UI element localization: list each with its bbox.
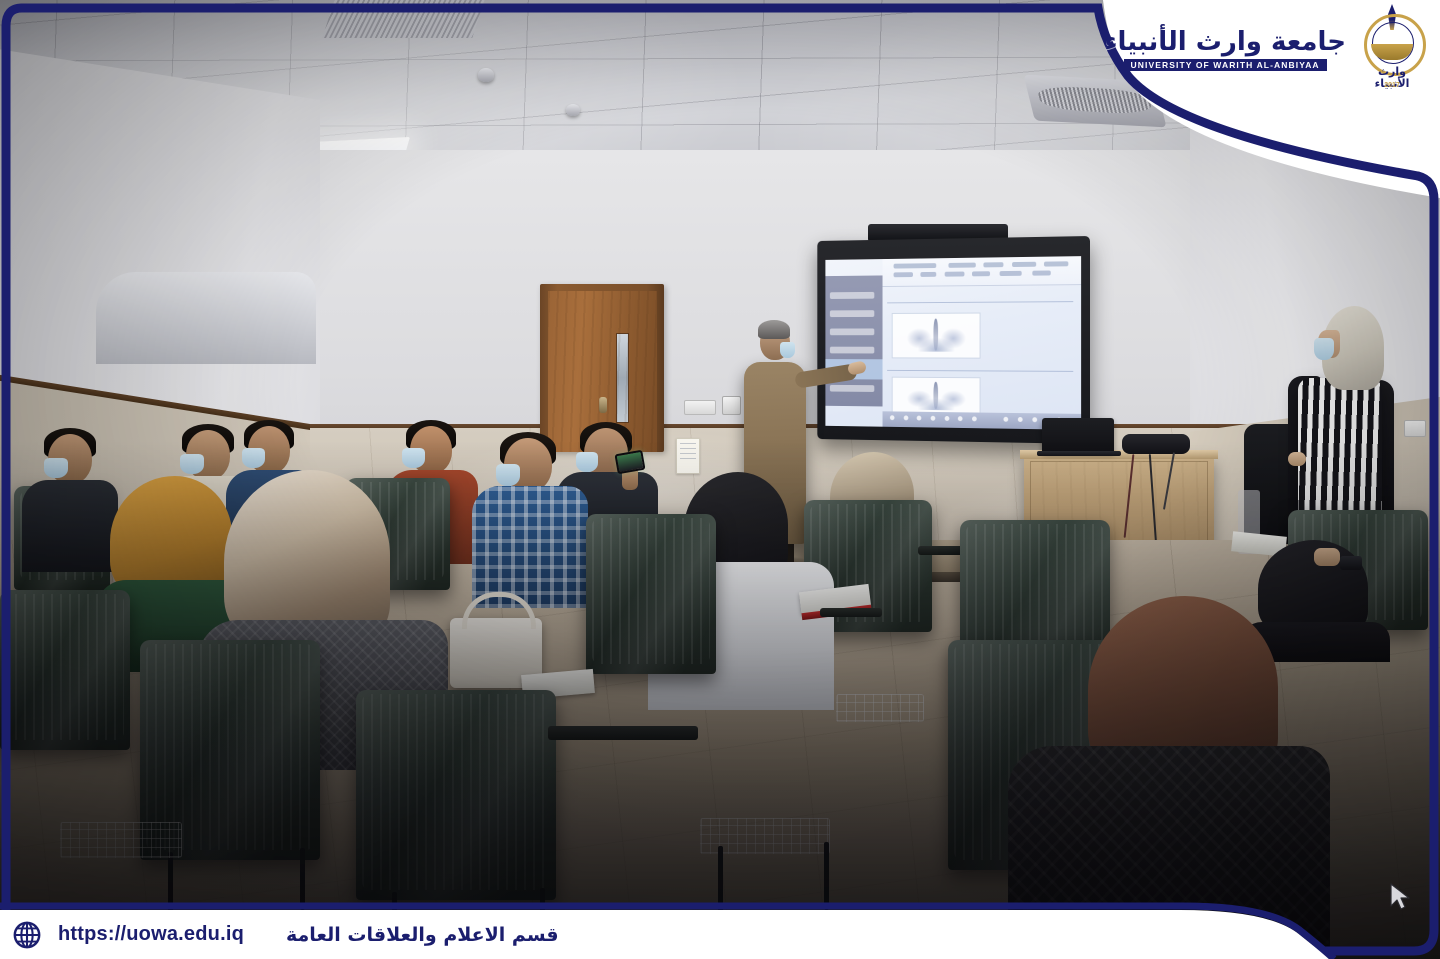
sidebar-row [830, 328, 874, 335]
taskbar-icon [1032, 418, 1037, 423]
taskbar-icon [903, 416, 908, 421]
lecture-chair [356, 690, 556, 900]
interactive-smartboard [817, 236, 1090, 444]
toolbar-chip [894, 263, 937, 268]
chair-leg [300, 848, 305, 910]
toolbar-chip [1032, 271, 1050, 276]
ceiling-vent-grille [322, 0, 488, 38]
smoke-detector [478, 68, 494, 82]
medical-figure [903, 380, 969, 410]
smartboard-screen [825, 256, 1081, 430]
student-face-mask [242, 448, 265, 468]
sidebar-row [830, 310, 874, 317]
toolbar-chip [944, 272, 964, 277]
taskbar-icon [1018, 417, 1023, 422]
wordmark-arabic: جامعة وارث الأنبياء [1104, 29, 1346, 55]
student-plaid-shirt [472, 438, 588, 608]
taskbar-icon [890, 416, 895, 421]
wordmark-latin: UNIVERSITY OF WARITH AL-ANBIYAA [1124, 59, 1327, 72]
toolbar-chip [921, 272, 937, 277]
content-divider [887, 301, 1073, 303]
footer-info-bar: https://uowa.edu.iq قسم الاعلام والعلاقا… [0, 910, 1252, 959]
instructor-hair [758, 320, 790, 339]
taskbar-icon [1004, 417, 1009, 422]
chair-leg [168, 852, 173, 912]
website-url[interactable]: https://uowa.edu.iq [58, 923, 244, 946]
under-seat-basket [60, 822, 182, 858]
chair-plastic-cover [356, 690, 556, 900]
university-wordmark: جامعة وارث الأنبياء UNIVERSITY OF WARITH… [1104, 29, 1346, 72]
student-hand [1314, 548, 1340, 566]
globe-icon [12, 920, 42, 950]
smartphone [1340, 556, 1362, 570]
chair-plastic-cover [0, 590, 130, 750]
chair-tablet-arm [548, 726, 698, 740]
figure-card [892, 312, 980, 358]
mouse-pointer-icon [1388, 882, 1414, 912]
equipment-bag [1122, 434, 1190, 454]
photo-card: جامعة وارث الأنبياء UNIVERSITY OF WARITH… [0, 0, 1440, 959]
wall-notice-sheet [676, 438, 700, 474]
university-emblem-icon: وارث الأنبياء 2017 [1360, 4, 1424, 96]
emblem-year: 2017 [1360, 82, 1424, 89]
door-handle [599, 397, 607, 413]
navigation-sidebar [825, 276, 882, 407]
assistant-hand [1288, 452, 1306, 466]
taskbar-icon [944, 416, 949, 421]
taskbar-icon [917, 416, 922, 421]
wall-socket [1404, 420, 1426, 437]
smoke-detector [566, 104, 580, 116]
lecture-hall-photo [0, 0, 1440, 959]
student-face-mask [496, 464, 520, 486]
figure-card [892, 376, 980, 416]
chair-leg [718, 846, 723, 912]
chair-tablet-arm [820, 608, 882, 617]
light-switch-plate [684, 400, 716, 415]
medical-figure [903, 317, 969, 352]
toolbar-chip [894, 273, 913, 278]
chair-leg [824, 842, 829, 910]
toolbar-chip [948, 263, 976, 268]
sidebar-row [830, 385, 874, 392]
toolbar-chip [984, 262, 1004, 267]
lecture-chair [0, 590, 130, 750]
assistant-face-mask [1314, 338, 1334, 360]
brand-lockup: جامعة وارث الأنبياء UNIVERSITY OF WARITH… [1104, 4, 1424, 96]
under-seat-basket [836, 694, 924, 722]
taskbar-icon [972, 417, 977, 422]
thermostat [722, 396, 741, 415]
student-foreground-right [1000, 596, 1330, 959]
student-face-mask [44, 458, 68, 478]
sidebar-row [830, 346, 874, 353]
sidebar-row [830, 292, 874, 299]
toolbar-chip [1000, 271, 1022, 276]
student-torso [472, 486, 588, 608]
student-collar [96, 272, 316, 364]
taskbar-icon [931, 416, 936, 421]
content-divider [887, 370, 1073, 372]
toolbar-chip [1044, 261, 1069, 266]
chair-plastic-cover [586, 514, 716, 674]
presenter-laptop [1042, 418, 1114, 452]
lecture-chair [586, 514, 716, 674]
toolbar-chip [1012, 262, 1036, 267]
door-vision-panel [616, 333, 629, 424]
instructor-face-mask [780, 342, 795, 358]
toolbar-chip [972, 272, 990, 277]
browser-toolbar [882, 256, 1081, 287]
department-name: قسم الاعلام والعلاقات العامة [286, 924, 559, 946]
student-face-mask [402, 448, 425, 468]
taskbar-icon [958, 417, 963, 422]
